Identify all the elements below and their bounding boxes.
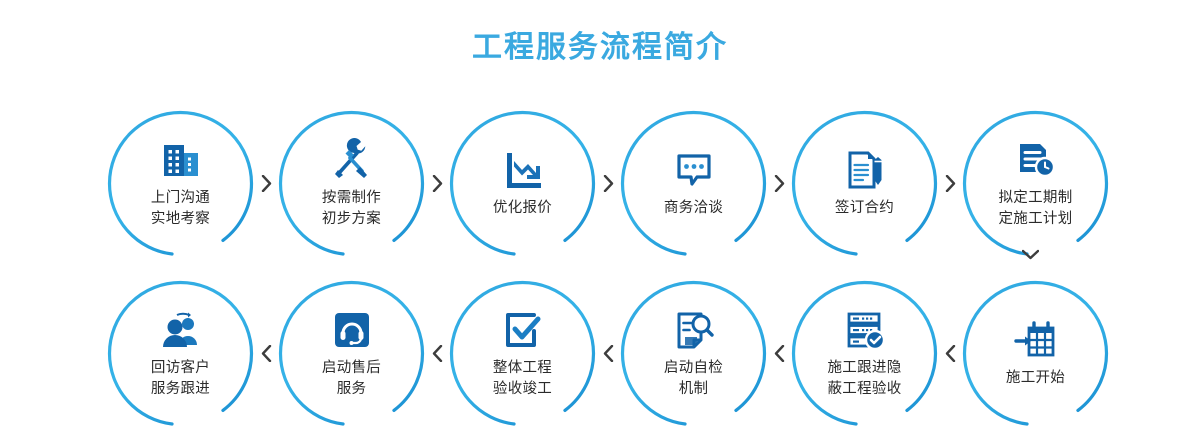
speech-bubble-icon xyxy=(671,147,717,193)
calendar-start-icon xyxy=(1013,317,1059,363)
flow-node-content: 拟定工期制 定施工计划 xyxy=(971,137,1101,229)
checkbox-check-icon xyxy=(500,307,546,353)
tools-wrench-screwdriver-icon xyxy=(329,137,375,183)
flow-node-content: 整体工程 验收竣工 xyxy=(458,307,588,399)
connector-chevron-left xyxy=(771,276,787,431)
flow-node-12[interactable]: 回访客户 服务跟进 xyxy=(103,276,258,431)
flow-row-top: 上门沟通 实地考察 xyxy=(0,98,1200,268)
connector-chevron-left xyxy=(429,276,445,431)
flow-node-content: 商务洽谈 xyxy=(629,147,759,219)
flow-node-label: 整体工程 验收竣工 xyxy=(493,358,552,399)
building-icon xyxy=(158,137,204,183)
flow-node-4[interactable]: 商务洽谈 xyxy=(616,106,771,261)
server-verified-icon xyxy=(842,307,888,353)
flow-node-2[interactable]: 按需制作 初步方案 xyxy=(274,106,429,261)
declining-chart-icon xyxy=(500,147,546,193)
flow-node-11[interactable]: 启动售后 服务 xyxy=(274,276,429,431)
flow-node-label: 施工跟进隐 蔽工程验收 xyxy=(828,358,902,399)
customer-followup-icon xyxy=(158,307,204,353)
flow-node-10[interactable]: 整体工程 验收竣工 xyxy=(445,276,600,431)
connector-chevron-right xyxy=(600,106,616,261)
headset-support-icon xyxy=(329,307,375,353)
connector-chevron-right xyxy=(771,106,787,261)
flow-node-content: 回访客户 服务跟进 xyxy=(116,307,246,399)
connector-chevron-right xyxy=(942,106,958,261)
flow-node-content: 上门沟通 实地考察 xyxy=(116,137,246,229)
flow-node-label: 回访客户 服务跟进 xyxy=(151,358,210,399)
flow-node-content: 签订合约 xyxy=(800,147,930,219)
connector-chevron-down xyxy=(1020,245,1040,263)
flow-node-6[interactable]: 拟定工期制 定施工计划 xyxy=(958,106,1113,261)
document-clock-icon xyxy=(1013,137,1059,183)
flow-node-label: 商务洽谈 xyxy=(664,198,723,219)
page-title: 工程服务流程简介 xyxy=(0,22,1200,66)
flow-node-3[interactable]: 优化报价 xyxy=(445,106,600,261)
flow-node-label: 启动自检 机制 xyxy=(664,358,723,399)
flow-node-7[interactable]: 施工开始 xyxy=(958,276,1113,431)
connector-chevron-left xyxy=(258,276,274,431)
flow-node-8[interactable]: 施工跟进隐 蔽工程验收 xyxy=(787,276,942,431)
flow-node-content: 启动自检 机制 xyxy=(629,307,759,399)
flow-node-9[interactable]: 启动自检 机制 xyxy=(616,276,771,431)
flow-node-label: 施工开始 xyxy=(1006,368,1065,389)
document-search-icon xyxy=(671,307,717,353)
flowchart-page: 工程服务流程简介 xyxy=(0,0,1200,440)
connector-chevron-left xyxy=(600,276,616,431)
flow-node-content: 优化报价 xyxy=(458,147,588,219)
flow-node-content: 按需制作 初步方案 xyxy=(287,137,417,229)
flow-node-label: 优化报价 xyxy=(493,198,552,219)
flow-node-content: 启动售后 服务 xyxy=(287,307,417,399)
contract-pen-icon xyxy=(842,147,888,193)
flow-node-content: 施工开始 xyxy=(971,317,1101,389)
flow-node-1[interactable]: 上门沟通 实地考察 xyxy=(103,106,258,261)
flow-row-bottom: 回访客户 服务跟进 xyxy=(0,268,1200,438)
flow-node-label: 签订合约 xyxy=(835,198,894,219)
connector-chevron-right xyxy=(429,106,445,261)
connector-chevron-left xyxy=(942,276,958,431)
connector-chevron-right xyxy=(258,106,274,261)
flow-node-content: 施工跟进隐 蔽工程验收 xyxy=(800,307,930,399)
flow-node-label: 拟定工期制 定施工计划 xyxy=(999,188,1073,229)
flow-node-label: 启动售后 服务 xyxy=(322,358,381,399)
flow-node-label: 按需制作 初步方案 xyxy=(322,188,381,229)
flow-node-label: 上门沟通 实地考察 xyxy=(151,188,210,229)
flow-node-5[interactable]: 签订合约 xyxy=(787,106,942,261)
